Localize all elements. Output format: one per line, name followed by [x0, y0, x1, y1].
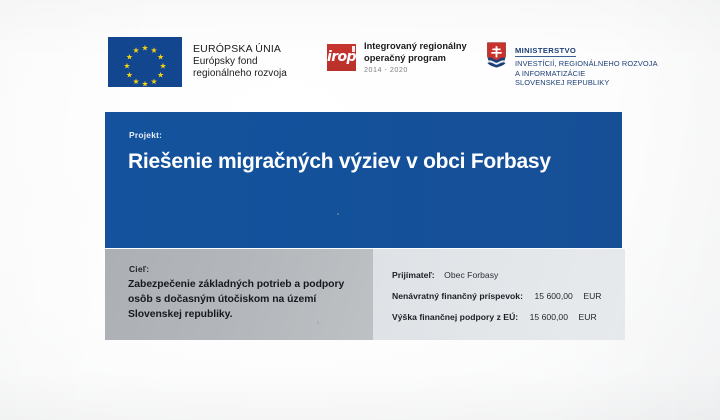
- irop-logo-block: irop Integrovaný regionálny operačný pro…: [327, 41, 467, 74]
- project-title: Riešenie migračných výziev v obci Forbas…: [128, 150, 606, 173]
- goal-label: Cieľ:: [129, 264, 149, 274]
- irop-period: 2014 - 2020: [364, 65, 467, 74]
- goal-text: Zabezpečenie základných potrieb a podpor…: [128, 277, 357, 322]
- ministry-line-3: SLOVENSKEJ REPUBLIKY: [515, 79, 658, 88]
- slovak-coat-of-arms-icon: [486, 42, 507, 68]
- project-kicker-label: Projekt:: [129, 130, 162, 140]
- funding-label: Nenávratný finančný príspevok:: [392, 291, 523, 301]
- logo-strip: EURÓPSKA ÚNIA Európsky fond regionálneho…: [108, 36, 628, 92]
- ministry-line-1: INVESTÍCIÍ, REGIONÁLNEHO ROZVOJA: [515, 60, 658, 69]
- funding-label: Prijímateľ:: [392, 270, 435, 280]
- eu-logo-block: EURÓPSKA ÚNIA Európsky fond regionálneho…: [108, 37, 287, 87]
- goal-panel: Cieľ: Zabezpečenie základných potrieb a …: [105, 249, 373, 340]
- irop-wordmark: irop: [327, 48, 356, 67]
- irop-program-line-1: Integrovaný regionálny: [364, 41, 467, 53]
- eu-logo-text: EURÓPSKA ÚNIA Európsky fond regionálneho…: [193, 43, 287, 80]
- irop-logo-text: Integrovaný regionálny operačný program …: [364, 41, 467, 74]
- eu-stars-icon: [108, 37, 182, 87]
- scanned-page: EURÓPSKA ÚNIA Európsky fond regionálneho…: [0, 0, 720, 420]
- eu-fund-line-1: Európsky fond: [193, 56, 287, 68]
- funding-value: Obec Forbasy: [444, 270, 498, 280]
- funding-row-eu-support: Výška finančnej podpory z EÚ: 15 600,00 …: [392, 307, 597, 325]
- eu-title-line: EURÓPSKA ÚNIA: [193, 43, 287, 56]
- funding-currency: EUR: [579, 312, 597, 322]
- funding-currency: EUR: [583, 291, 601, 301]
- funding-amount: 15 600,00: [530, 312, 568, 322]
- funding-row-grant: Nenávratný finančný príspevok: 15 600,00…: [392, 286, 602, 304]
- funding-amount: 15 600,00: [534, 291, 572, 301]
- ministry-logo-block: MINISTERSTVO INVESTÍCIÍ, REGIONÁLNEHO RO…: [486, 39, 658, 88]
- funding-panel: Prijímateľ: Obec Forbasy Nenávratný fina…: [373, 249, 625, 340]
- billboard-footer: Cieľ: Zabezpečenie základných potrieb a …: [105, 249, 625, 340]
- billboard-banner: Projekt: Riešenie migračných výziev v ob…: [105, 112, 622, 248]
- funding-row-beneficiary: Prijímateľ: Obec Forbasy: [392, 265, 498, 283]
- eu-fund-line-2: regionálneho rozvoja: [193, 68, 287, 80]
- irop-program-line-2: operačný program: [364, 53, 467, 65]
- ministry-heading: MINISTERSTVO: [515, 46, 576, 57]
- ministry-logo-text: MINISTERSTVO INVESTÍCIÍ, REGIONÁLNEHO RO…: [515, 39, 658, 88]
- scan-speck: [337, 213, 339, 215]
- funding-label: Výška finančnej podpory z EÚ:: [392, 312, 518, 322]
- project-billboard: Projekt: Riešenie migračných výziev v ob…: [105, 112, 625, 340]
- eu-flag-icon: [108, 37, 182, 87]
- irop-logo-icon: irop: [327, 44, 356, 71]
